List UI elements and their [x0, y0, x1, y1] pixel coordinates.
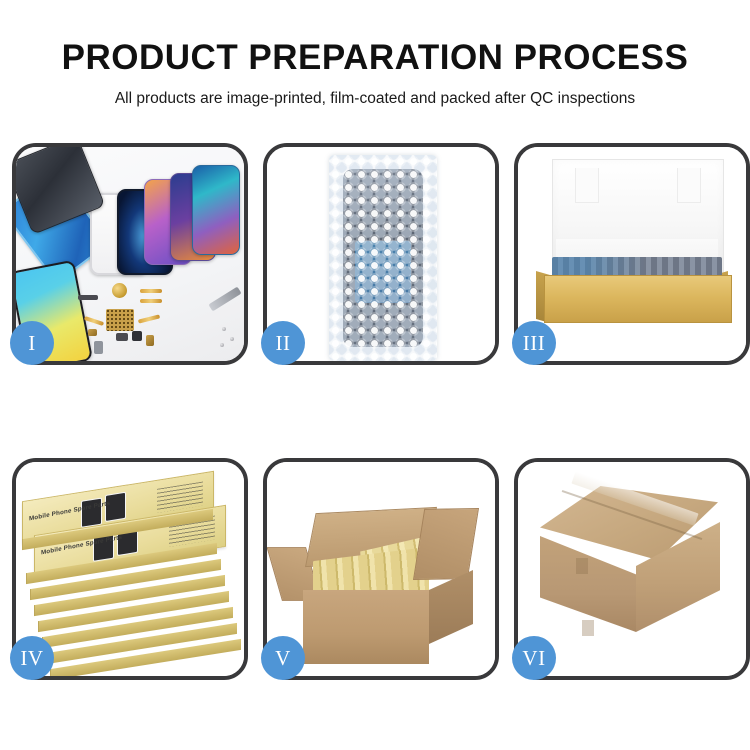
- part-sim-tray: [94, 341, 103, 354]
- step-badge-4: IV: [10, 636, 54, 680]
- part-connector: [78, 295, 98, 300]
- part-battery-connector: [146, 335, 154, 346]
- carton-right-face: [429, 570, 473, 644]
- page-header: PRODUCT PREPARATION PROCESS All products…: [0, 0, 750, 108]
- panel-3-image: [518, 147, 746, 361]
- mailer-box-scene: [518, 147, 746, 361]
- step-badge-3: III: [512, 321, 556, 365]
- carton-flap-right: [413, 508, 479, 580]
- panel-4-image: Mobile Phone Spare Parts Mobile Phone Sp…: [16, 462, 244, 676]
- open-carton-scene: [267, 462, 495, 676]
- process-step-panel-1[interactable]: I: [12, 143, 248, 365]
- carton-handle-notch-1: [576, 558, 588, 574]
- sealed-carton-scene: [518, 462, 746, 676]
- retail-box-stack-scene: Mobile Phone Spare Parts Mobile Phone Sp…: [16, 462, 244, 676]
- bubble-wrap-scene: [267, 147, 495, 361]
- part-flex-cable-2: [140, 299, 162, 303]
- mailer-lid-tab-right: [677, 168, 701, 203]
- carton-front-face: [303, 590, 429, 664]
- process-step-panel-4[interactable]: Mobile Phone Spare Parts Mobile Phone Sp…: [12, 458, 248, 680]
- mailer-box-body: [544, 275, 732, 323]
- panel-5-image: [267, 462, 495, 676]
- page-subtitle: All products are image-printed, film-coa…: [0, 78, 750, 108]
- panel-1-image: [16, 147, 244, 361]
- part-chip-1: [88, 329, 97, 336]
- phone-display-teal: [192, 165, 240, 255]
- tweezers-tool: [208, 287, 241, 312]
- process-step-panel-5[interactable]: V: [263, 458, 499, 680]
- phone-parts-scene: [16, 147, 244, 361]
- screw-3: [220, 343, 224, 347]
- part-flex-cable-3: [84, 316, 104, 326]
- part-ic-grid: [106, 309, 134, 331]
- mailer-lid-tab-left: [575, 168, 599, 203]
- screw-1: [222, 327, 226, 331]
- part-flex-cable-4: [138, 314, 160, 323]
- process-step-panel-3[interactable]: III: [514, 143, 750, 365]
- part-camera-module: [132, 331, 142, 341]
- step-badge-5: V: [261, 636, 305, 680]
- process-step-panel-6[interactable]: VI: [514, 458, 750, 680]
- process-step-grid: I II: [12, 143, 738, 680]
- step-badge-1: I: [10, 321, 54, 365]
- page-title: PRODUCT PREPARATION PROCESS: [0, 0, 750, 78]
- part-speaker-coil: [112, 283, 127, 298]
- bubble-wrap-pouch: [329, 155, 437, 361]
- step-badge-2: II: [261, 321, 305, 365]
- panel-6-image: [518, 462, 746, 676]
- screw-2: [230, 337, 234, 341]
- panel-2-image: [267, 147, 495, 361]
- carton-handle-notch-2: [582, 620, 594, 636]
- step-badge-6: VI: [512, 636, 556, 680]
- part-flex-cable-1: [140, 289, 162, 293]
- sealed-carton-front-face: [540, 536, 636, 632]
- part-button-cap: [116, 333, 128, 341]
- process-step-panel-2[interactable]: II: [263, 143, 499, 365]
- bubble-highlights: [329, 155, 437, 361]
